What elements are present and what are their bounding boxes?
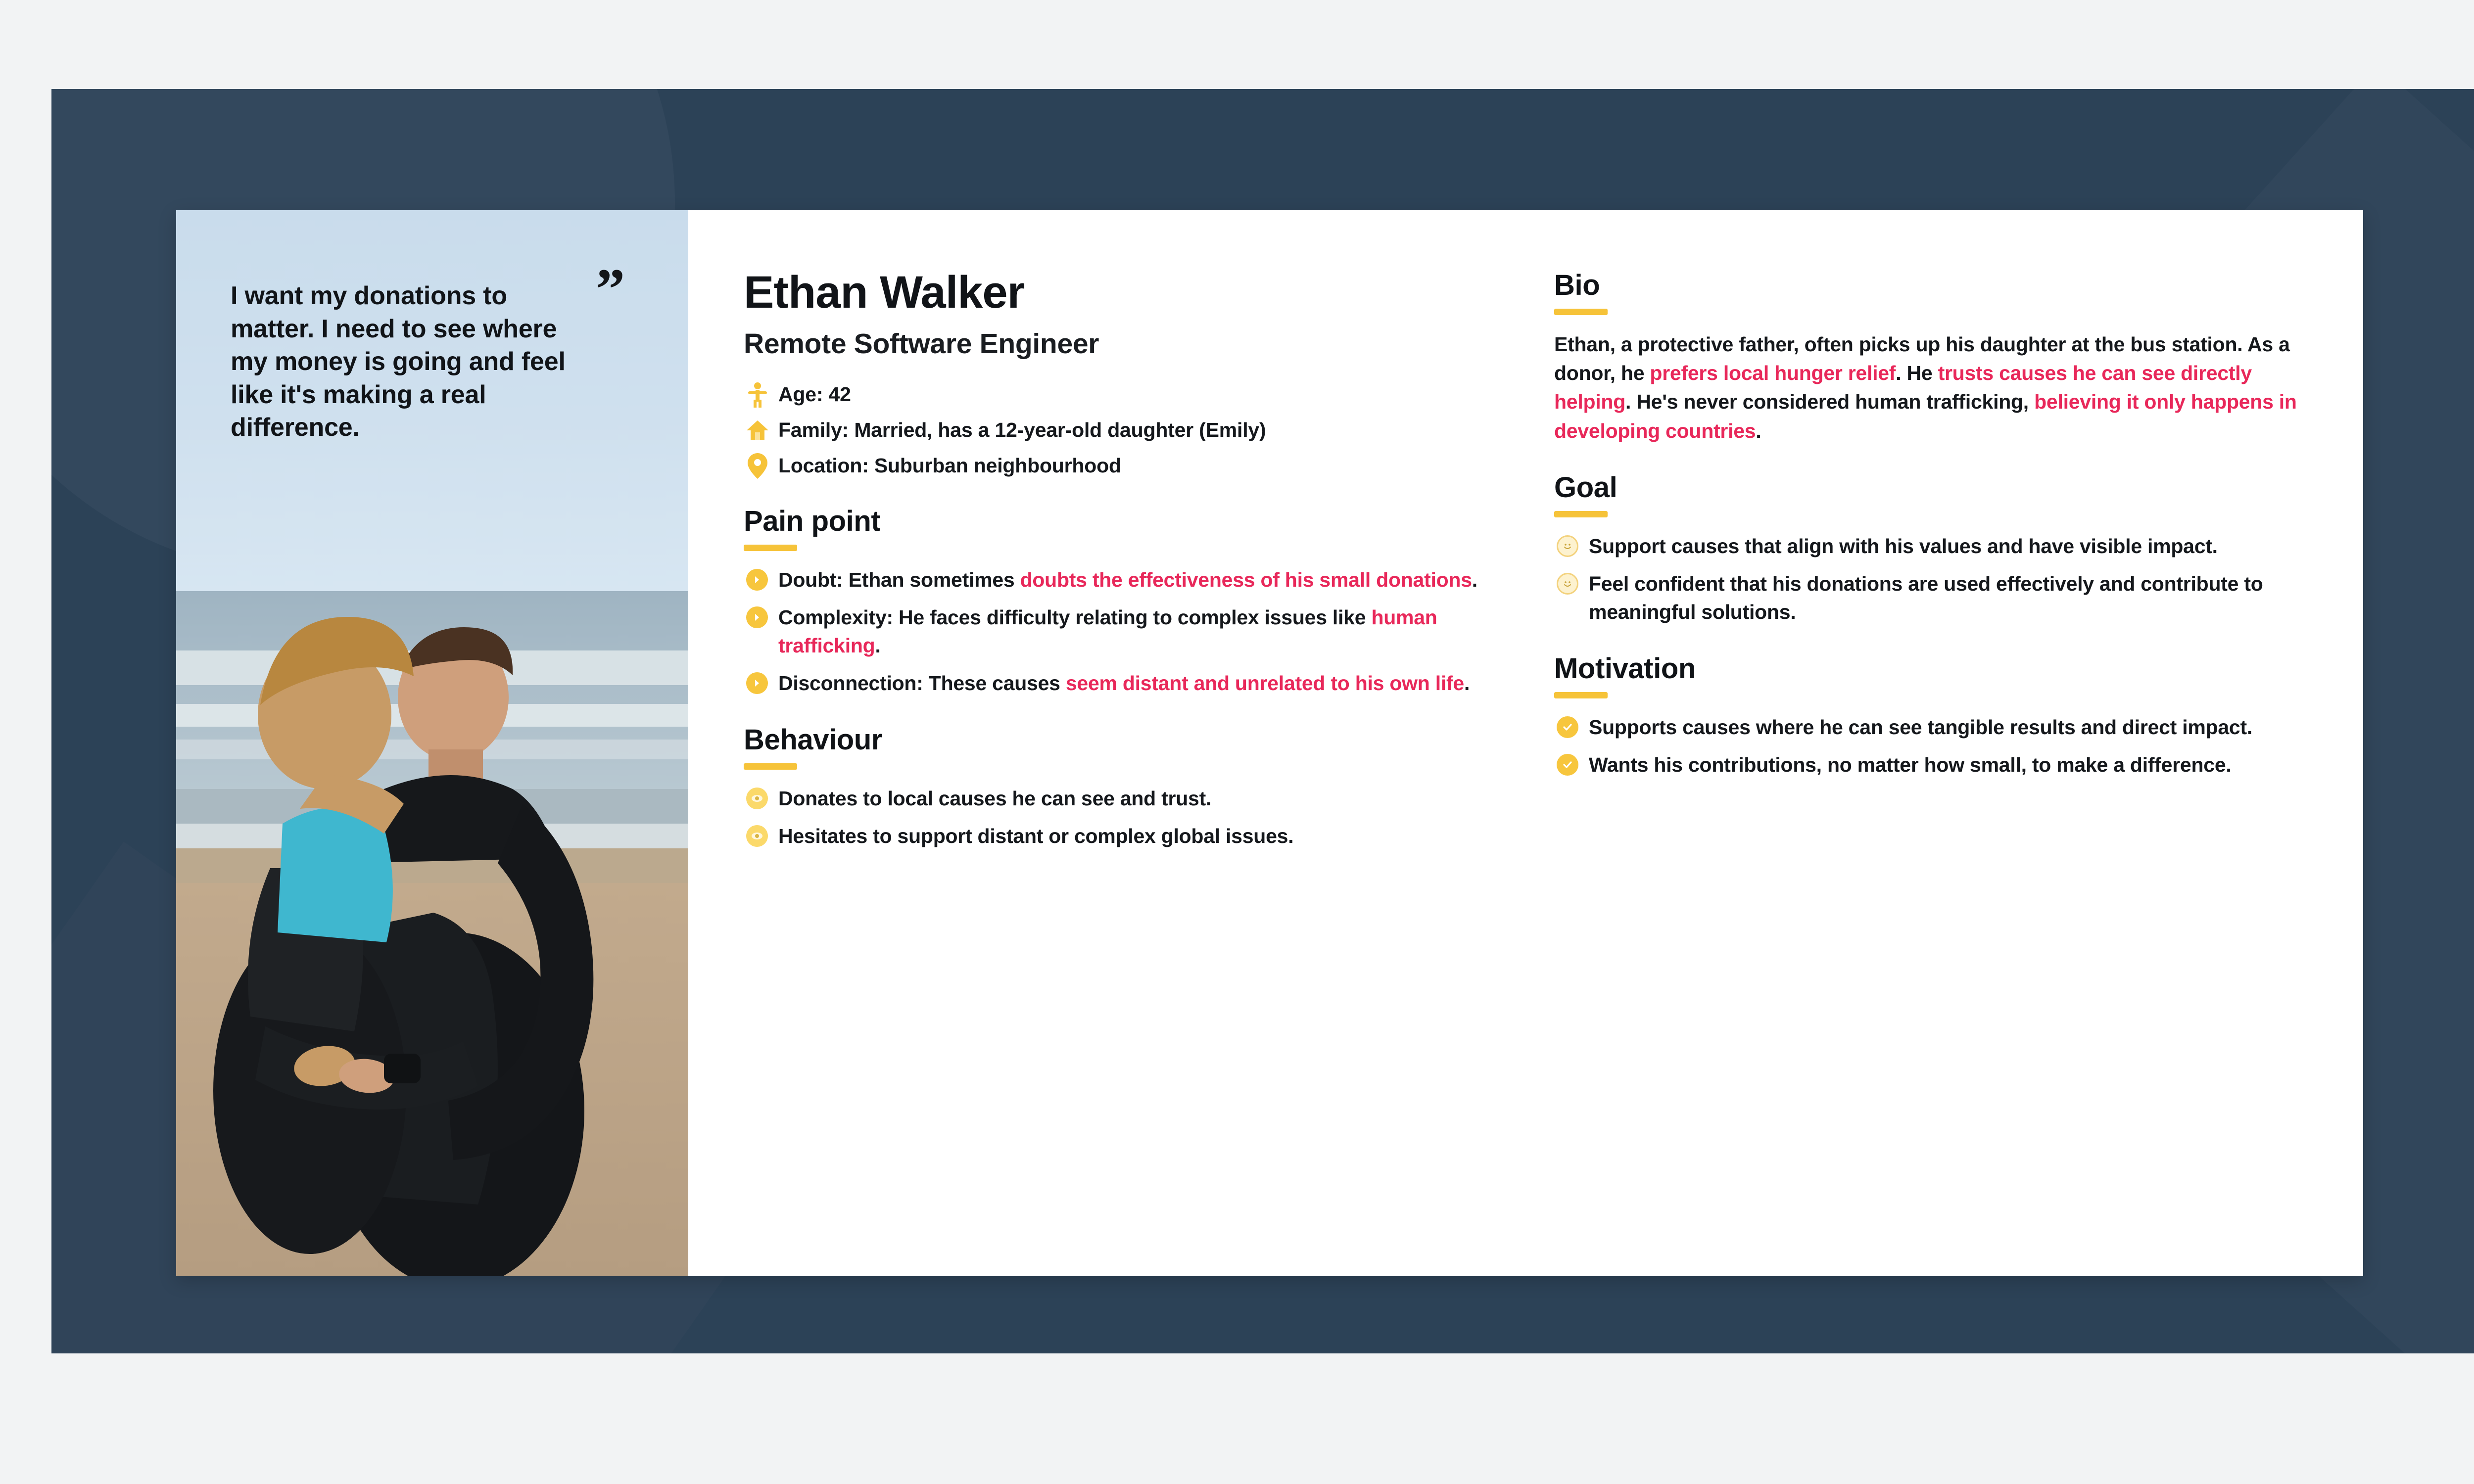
arrow-circle-icon — [744, 603, 770, 628]
bullet-text: Donates to local causes he can see and t… — [778, 785, 1211, 813]
list-item: Disconnection: These causes seem distant… — [744, 669, 1490, 697]
list-item: Donates to local causes he can see and t… — [744, 785, 1490, 813]
bullet-text: Disconnection: These causes seem distant… — [778, 669, 1470, 697]
fact-row-location: Location: Suburban neighbourhood — [744, 453, 1490, 479]
arrow-circle-icon — [744, 566, 770, 591]
section-rule — [1554, 309, 1608, 315]
list-item: Hesitates to support distant or complex … — [744, 822, 1490, 850]
check-circle-icon — [1554, 713, 1581, 738]
list-item: Complexity: He faces difficulty relating… — [744, 603, 1490, 659]
section-rule — [744, 545, 797, 551]
section-rule — [744, 763, 797, 770]
persona-quote: I want my donations to matter. I need to… — [231, 279, 577, 444]
fact-text-family: Family: Married, has a 12-year-old daugh… — [778, 418, 1266, 442]
pain-point-list: Doubt: Ethan sometimes doubts the effect… — [744, 566, 1490, 697]
list-item: Support causes that align with his value… — [1554, 532, 2314, 560]
bullet-text: Wants his contributions, no matter how s… — [1589, 751, 2232, 779]
persona-photo-illustration — [176, 591, 688, 1276]
list-item: Supports causes where he can see tangibl… — [1554, 713, 2314, 742]
section-bio: Bio Ethan, a protective father, often pi… — [1554, 269, 2314, 445]
list-item: Feel confident that his donations are us… — [1554, 570, 2314, 626]
list-item: Doubt: Ethan sometimes doubts the effect… — [744, 566, 1490, 594]
section-title-behaviour: Behaviour — [744, 723, 1490, 756]
bio-text: Ethan, a protective father, often picks … — [1554, 330, 2314, 445]
bullet-text: Feel confident that his donations are us… — [1589, 570, 2314, 626]
persona-name: Ethan Walker — [744, 269, 1490, 317]
right-column: Bio Ethan, a protective father, often pi… — [1524, 210, 2363, 1276]
persona-photo — [176, 591, 688, 1276]
section-title-motivation: Motivation — [1554, 652, 2314, 685]
section-title-bio: Bio — [1554, 269, 2314, 302]
bullet-text: Supports causes where he can see tangibl… — [1589, 713, 2252, 742]
home-icon — [744, 418, 771, 442]
list-item: Wants his contributions, no matter how s… — [1554, 751, 2314, 779]
persona-card: ” I want my donations to matter. I need … — [176, 210, 2363, 1276]
bullet-text: Doubt: Ethan sometimes doubts the effect… — [778, 566, 1477, 594]
smiley-circle-icon — [1554, 570, 1581, 595]
section-rule — [1554, 692, 1608, 698]
smiley-circle-icon — [1554, 532, 1581, 557]
eye-circle-icon — [744, 785, 770, 809]
section-rule — [1554, 511, 1608, 517]
fact-text-age: Age: 42 — [778, 383, 851, 406]
fact-row-age: Age: 42 — [744, 382, 1490, 408]
goal-list: Support causes that align with his value… — [1554, 532, 2314, 626]
motivation-list: Supports causes where he can see tangibl… — [1554, 713, 2314, 779]
person-icon — [744, 382, 771, 408]
fact-row-family: Family: Married, has a 12-year-old daugh… — [744, 418, 1490, 442]
section-title-goal: Goal — [1554, 471, 2314, 504]
photo-column: ” I want my donations to matter. I need … — [176, 210, 688, 1276]
fact-text-location: Location: Suburban neighbourhood — [778, 454, 1121, 477]
slide-canvas: ” I want my donations to matter. I need … — [51, 89, 2474, 1353]
quote-mark-icon: ” — [596, 269, 625, 311]
persona-facts: Age: 42 Family: Married, has a 12-year-o… — [744, 382, 1490, 479]
bullet-text: Hesitates to support distant or complex … — [778, 822, 1293, 850]
bullet-text: Support causes that align with his value… — [1589, 532, 2218, 560]
section-pain-point: Pain point Doubt: Ethan sometimes doubts… — [744, 505, 1490, 697]
behaviour-list: Donates to local causes he can see and t… — [744, 785, 1490, 850]
section-motivation: Motivation Supports causes where he can … — [1554, 652, 2314, 779]
section-goal: Goal Support causes that align with his … — [1554, 471, 2314, 626]
section-behaviour: Behaviour Donates to local causes he can… — [744, 723, 1490, 850]
location-pin-icon — [744, 453, 771, 479]
persona-role: Remote Software Engineer — [744, 327, 1490, 360]
eye-circle-icon — [744, 822, 770, 847]
arrow-circle-icon — [744, 669, 770, 694]
check-circle-icon — [1554, 751, 1581, 776]
bullet-text: Complexity: He faces difficulty relating… — [778, 603, 1490, 659]
middle-column: Ethan Walker Remote Software Engineer Ag… — [688, 210, 1524, 1276]
section-title-pain-point: Pain point — [744, 505, 1490, 538]
quote-panel: ” I want my donations to matter. I need … — [176, 210, 688, 591]
